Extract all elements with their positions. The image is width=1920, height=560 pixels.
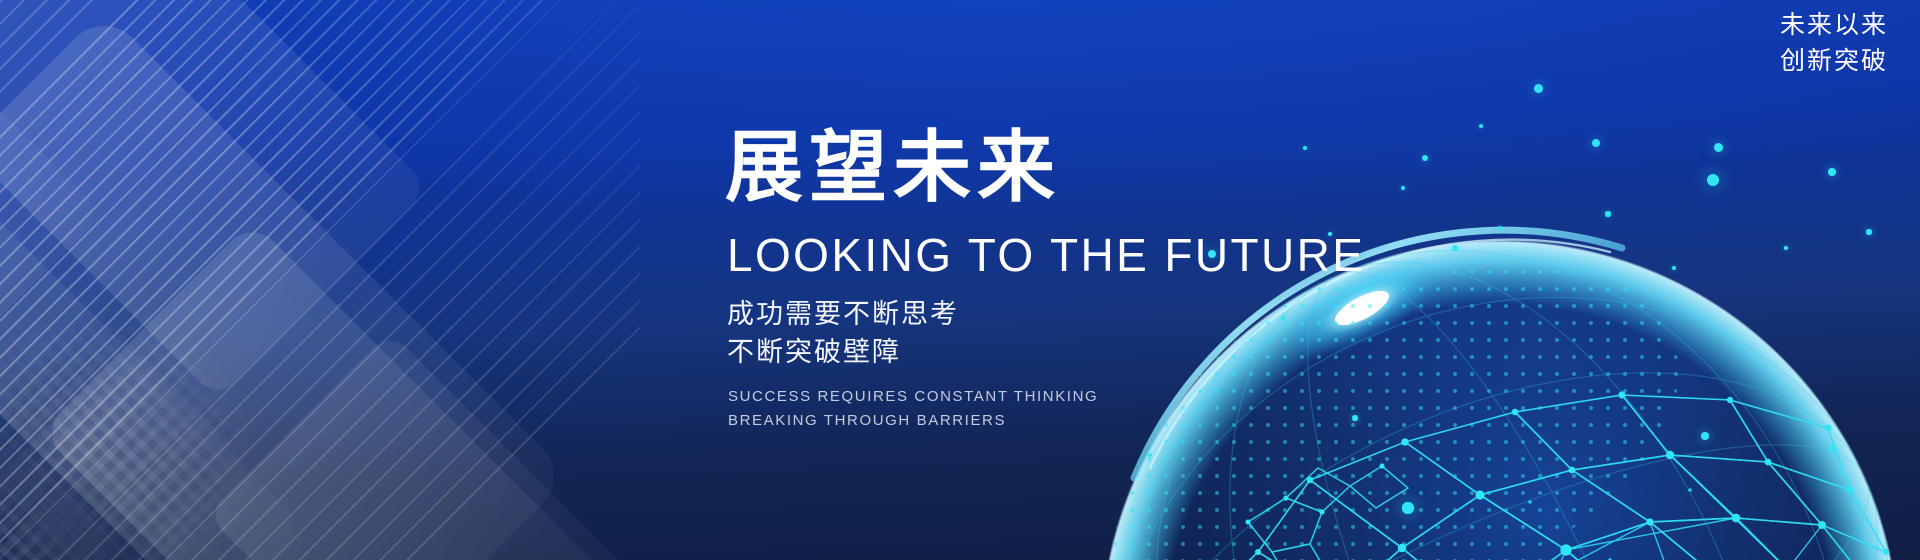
decor-panel	[206, 331, 640, 560]
corner-slogan: 未来以来 创新突破	[1780, 8, 1888, 79]
halftone-dot-grid	[0, 338, 232, 560]
corner-slogan-line-1: 未来以来	[1780, 8, 1888, 44]
particle-dot	[1605, 211, 1610, 216]
decor-panel	[40, 220, 620, 560]
particle-dot	[1498, 226, 1502, 230]
left-pattern-decoration	[0, 0, 640, 560]
page-title-chinese: 展望未来	[725, 128, 1485, 206]
decor-panel	[0, 0, 430, 400]
particle-dot	[1828, 168, 1835, 175]
subtitle-english-line-2: BREAKING THROUGH BARRIERS	[728, 409, 1485, 433]
particle-dot	[1701, 432, 1708, 439]
particle-dot	[1148, 453, 1152, 457]
particle-dot	[1784, 246, 1788, 250]
particle-dot	[1534, 84, 1543, 93]
decor-panel	[0, 0, 103, 383]
subtitle-chinese-line-1: 成功需要不断思考	[727, 296, 1485, 332]
headline-block: 展望未来 LOOKING TO THE FUTURE 成功需要不断思考 不断突破…	[725, 128, 1485, 433]
particle-dot	[1866, 229, 1871, 234]
diagonal-lines	[0, 0, 465, 505]
particle-dot	[1592, 139, 1600, 147]
particle-dot	[1830, 445, 1836, 451]
particle-dot	[1672, 266, 1676, 270]
subtitle-english-line-1: SUCCESS REQUIRES CONSTANT THINKING	[728, 385, 1485, 409]
halftone-dot-grid	[0, 222, 338, 560]
diagonal-lines	[0, 0, 640, 560]
diagonal-line-group	[0, 0, 640, 560]
corner-slogan-line-2: 创新突破	[1780, 44, 1888, 80]
decor-panel	[0, 9, 571, 560]
diagonal-lines	[0, 0, 640, 560]
subtitle-chinese-line-2: 不断突破壁障	[727, 334, 1485, 370]
particle-dot	[1402, 502, 1413, 513]
particle-dot	[1714, 143, 1723, 152]
decor-panel	[0, 135, 310, 560]
page-title-english: LOOKING TO THE FUTURE	[727, 232, 1485, 278]
banner-root: 展望未来 LOOKING TO THE FUTURE 成功需要不断思考 不断突破…	[0, 0, 1920, 560]
particle-dot	[1707, 174, 1719, 186]
